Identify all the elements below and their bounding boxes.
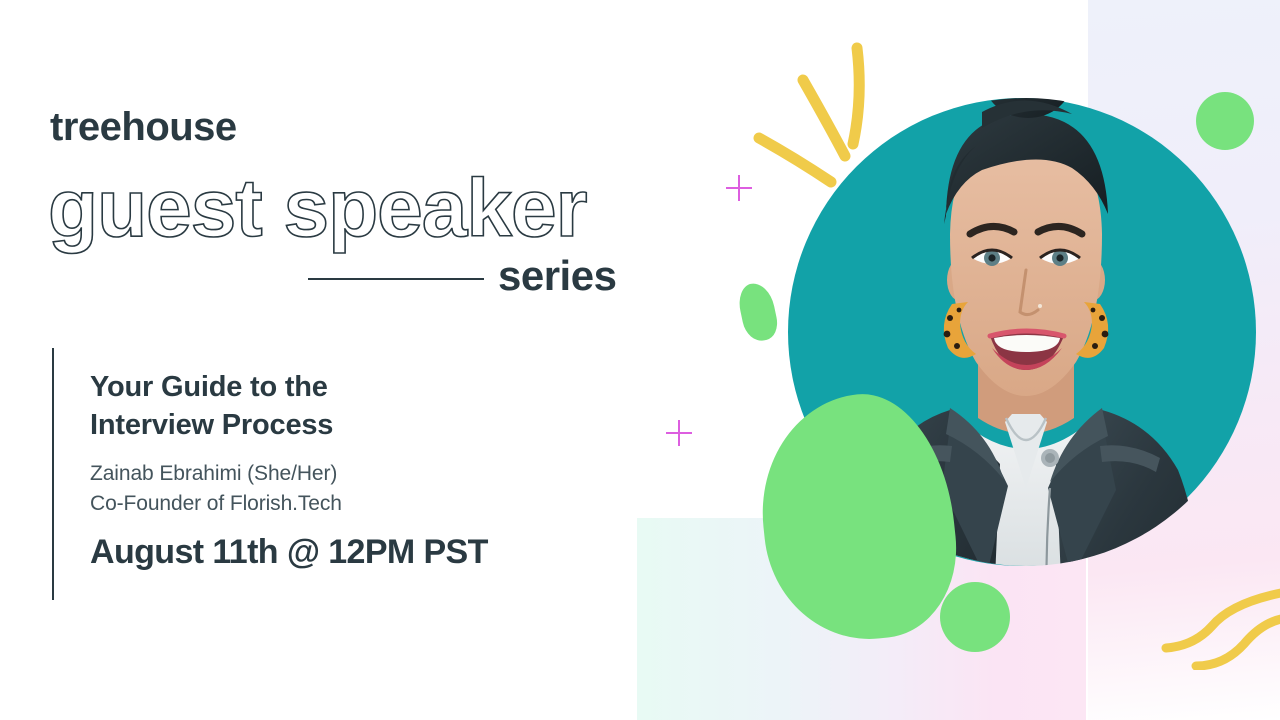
event-datetime: August 11th @ 12PM PST [90, 533, 610, 572]
talk-title-line-2: Interview Process [90, 406, 610, 444]
talk-title: Your Guide to the Interview Process [90, 368, 610, 445]
session-details: Your Guide to the Interview Process Zain… [90, 368, 610, 573]
headline-outline-label: guest speaker [48, 163, 587, 254]
plus-icon [666, 420, 692, 446]
squiggle-icon [1160, 580, 1280, 670]
detail-vertical-rule [52, 348, 54, 600]
headline-outline-text: guest speaker [40, 160, 660, 260]
speaker-name: Zainab Ebrahimi (She/Her) [90, 459, 610, 489]
series-divider [308, 278, 484, 280]
sparkle-icon [745, 40, 885, 190]
talk-title-line-1: Your Guide to the [90, 368, 610, 406]
green-circle-bottom-shape [940, 582, 1010, 652]
series-label: series [498, 255, 616, 297]
speaker-role: Co-Founder of Florish.Tech [90, 489, 610, 519]
brand-wordmark: treehouse [50, 107, 237, 147]
green-bean-small-shape [735, 280, 780, 344]
promo-slide: treehouse guest speaker series Your Guid… [0, 0, 1280, 720]
plus-icon [726, 175, 752, 201]
